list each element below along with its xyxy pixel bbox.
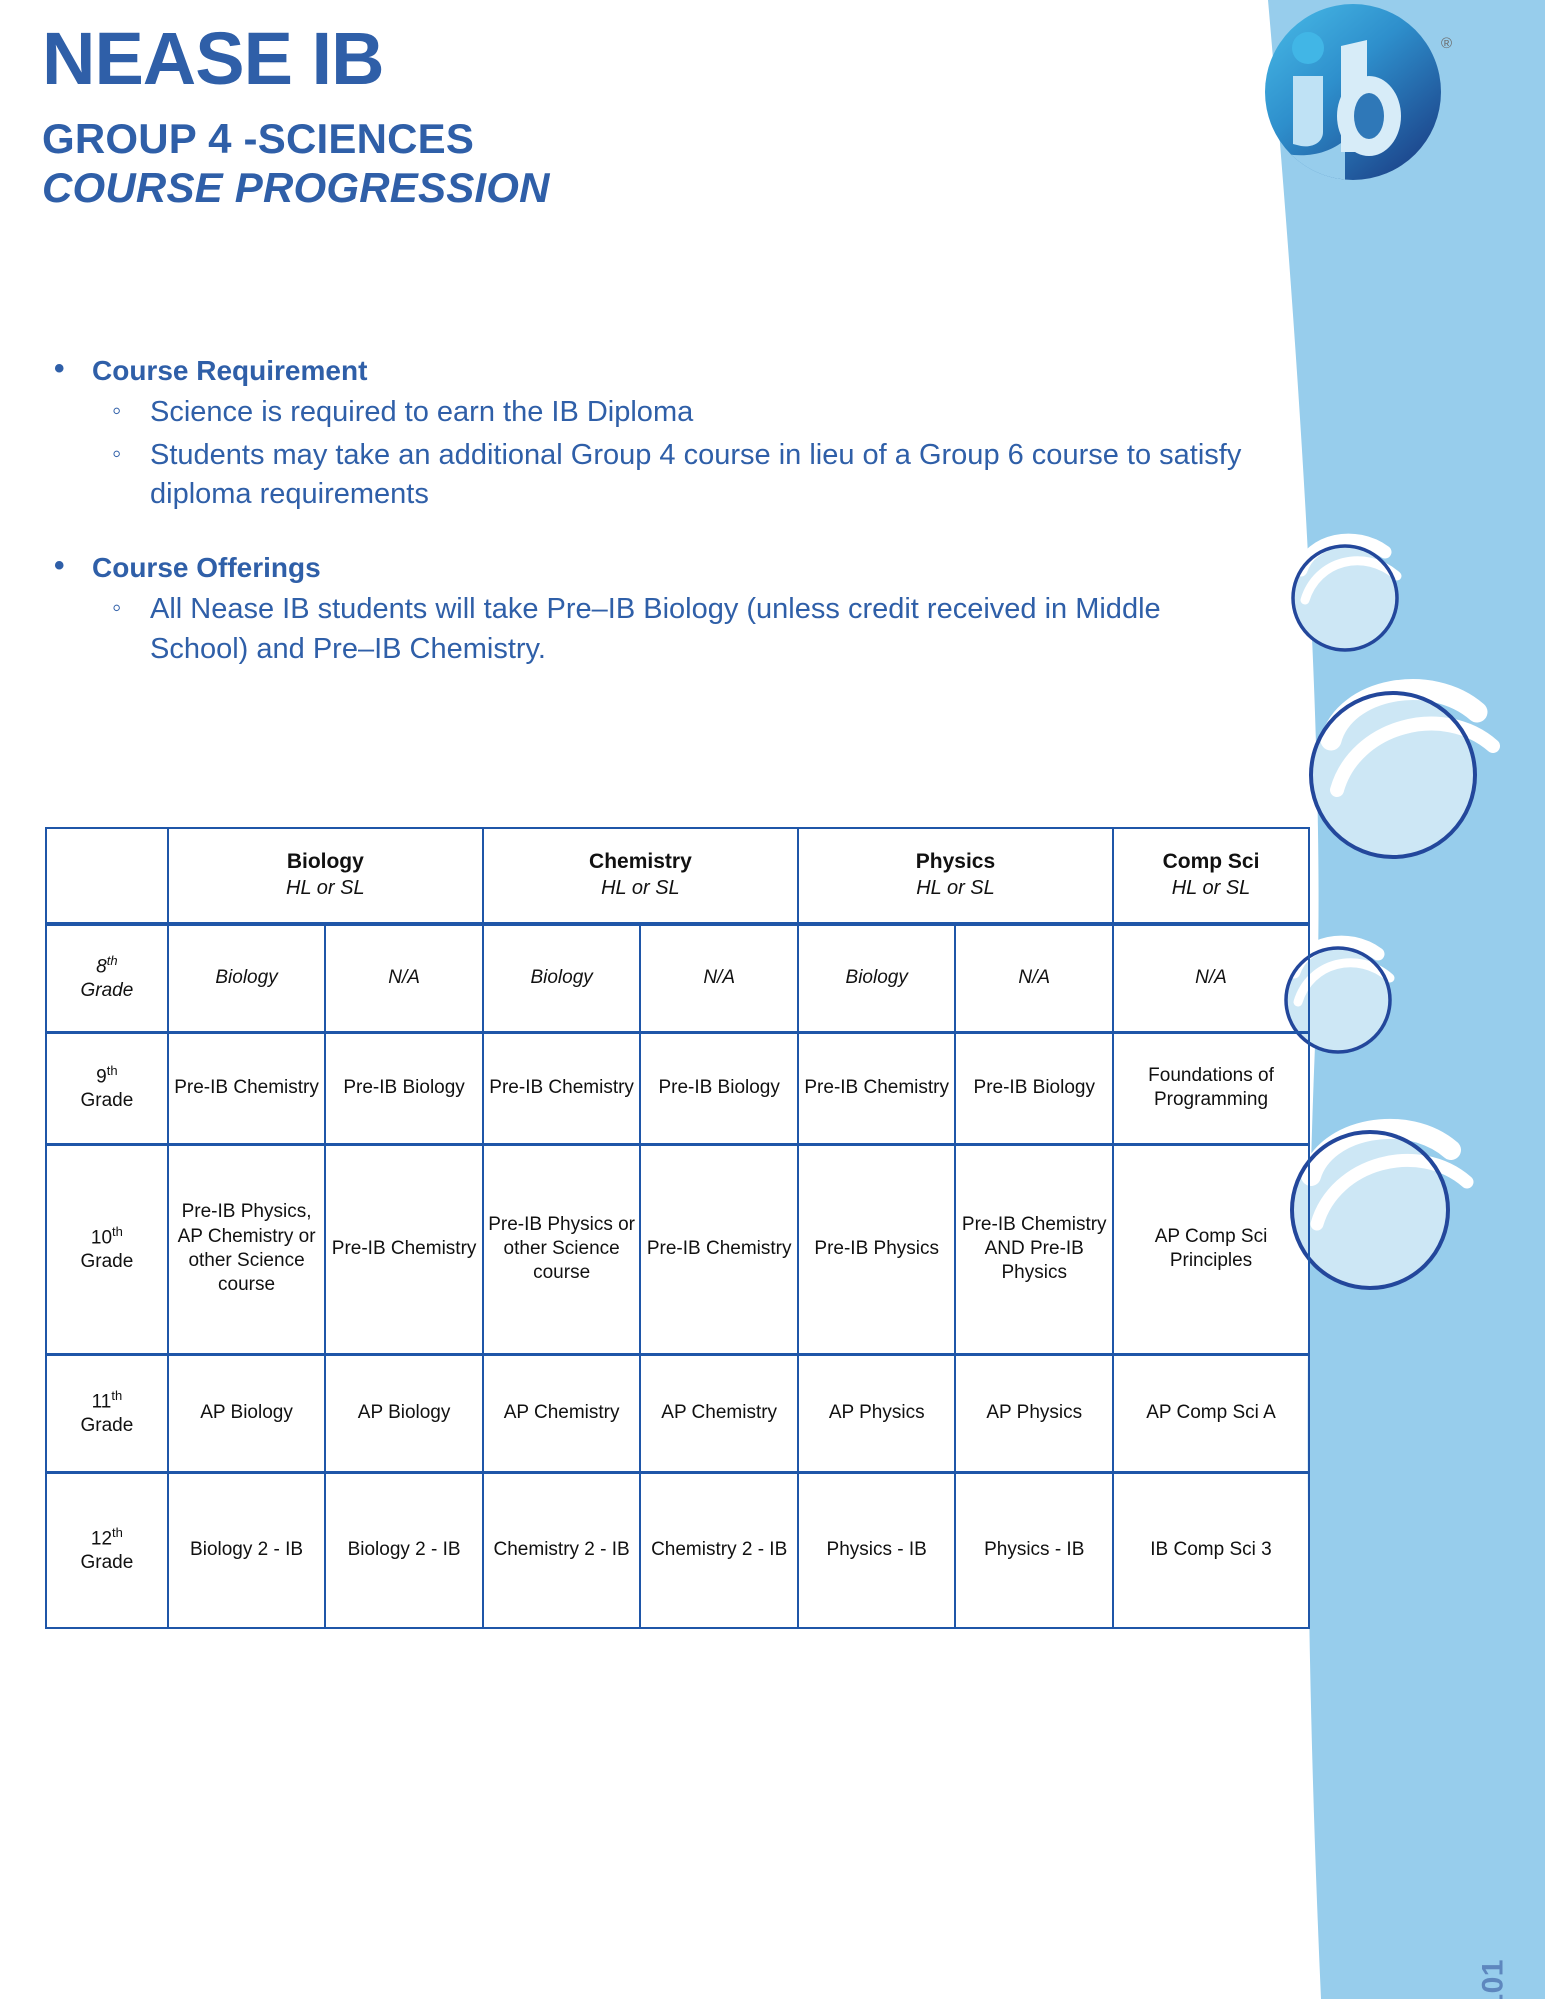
grade-ordinal: th <box>107 953 118 968</box>
table-cell: N/A <box>640 924 798 1032</box>
table-corner-cell <box>46 828 168 924</box>
column-header-chemistry: Chemistry HL or SL <box>483 828 798 924</box>
bubble-4 <box>1292 1129 1467 1288</box>
table-cell: Biology 2 - IB <box>168 1472 326 1628</box>
table-cell: Pre-IB Physics or other Science course <box>483 1144 641 1354</box>
table-cell: Pre-IB Biology <box>955 1032 1113 1144</box>
column-header-sub: HL or SL <box>487 876 794 902</box>
column-header-sub: HL or SL <box>1117 876 1305 902</box>
bullet-item: Science is required to earn the IB Diplo… <box>42 393 1252 432</box>
table-cell: N/A <box>1113 924 1309 1032</box>
row-label-grade-12: 12th Grade <box>46 1472 168 1628</box>
row-label-grade-9: 9th Grade <box>46 1032 168 1144</box>
page-title: NEASE IB <box>42 20 550 98</box>
table-cell: Pre-IB Chemistry <box>798 1032 956 1144</box>
table-row: 11th Grade AP Biology AP Biology AP Chem… <box>46 1354 1309 1472</box>
table-cell: Physics - IB <box>955 1472 1113 1628</box>
table-cell: Pre-IB Chemistry <box>483 1032 641 1144</box>
table-cell: IB Comp Sci 3 <box>1113 1472 1309 1628</box>
table-cell: Biology 2 - IB <box>325 1472 483 1628</box>
table-header-row: Biology HL or SL Chemistry HL or SL Phys… <box>46 828 1309 924</box>
grade-ordinal: th <box>111 1388 122 1403</box>
grade-ordinal: th <box>112 1224 123 1239</box>
table-cell: Pre-IB Biology <box>640 1032 798 1144</box>
table-cell: Chemistry 2 - IB <box>640 1472 798 1628</box>
bullet-heading-course-requirement: Course Requirement <box>42 355 1252 387</box>
table-cell: Pre-IB Chemistry <box>168 1032 326 1144</box>
table-cell: Biology <box>168 924 326 1032</box>
grade-number: 12 <box>91 1528 112 1549</box>
grade-ordinal: th <box>112 1525 123 1540</box>
table-cell: Pre-IB Chemistry <box>640 1144 798 1354</box>
bubble-decorations <box>1286 540 1493 1288</box>
table-cell: AP Chemistry <box>640 1354 798 1472</box>
table-cell: Biology <box>483 924 641 1032</box>
bullet-heading-course-offerings: Course Offerings <box>42 552 1252 584</box>
row-label-grade-11: 11th Grade <box>46 1354 168 1472</box>
row-label-grade-10: 10th Grade <box>46 1144 168 1354</box>
bubble-1 <box>1293 540 1397 650</box>
table-cell: Foundations of Programming <box>1113 1032 1309 1144</box>
table-row: 12th Grade Biology 2 - IB Biology 2 - IB… <box>46 1472 1309 1628</box>
table-cell: AP Biology <box>168 1354 326 1472</box>
table-cell: Pre-IB Physics, AP Chemistry or other Sc… <box>168 1144 326 1354</box>
ib-logo: ® <box>1245 0 1460 200</box>
table-cell: AP Physics <box>798 1354 956 1472</box>
table-cell: AP Chemistry <box>483 1354 641 1472</box>
column-header-physics: Physics HL or SL <box>798 828 1113 924</box>
table-cell: Chemistry 2 - IB <box>483 1472 641 1628</box>
grade-number: 9 <box>96 1066 107 1087</box>
column-header-name: Chemistry <box>487 849 794 876</box>
table-row: 9th Grade Pre-IB Chemistry Pre-IB Biolog… <box>46 1032 1309 1144</box>
bullet-spacer <box>42 518 1252 552</box>
table-cell: Pre-IB Chemistry AND Pre-IB Physics <box>955 1144 1113 1354</box>
page-subtitle: GROUP 4 -SCIENCES <box>42 116 550 162</box>
grade-number: 8 <box>96 956 107 977</box>
table-cell: AP Biology <box>325 1354 483 1472</box>
table-header: Biology HL or SL Chemistry HL or SL Phys… <box>46 828 1309 924</box>
table-cell: N/A <box>955 924 1113 1032</box>
registered-mark: ® <box>1441 35 1452 52</box>
grade-word: Grade <box>80 1415 133 1436</box>
column-header-sub: HL or SL <box>802 876 1109 902</box>
table-cell: AP Comp Sci Principles <box>1113 1144 1309 1354</box>
grade-word: Grade <box>80 980 133 1001</box>
table-cell: AP Comp Sci A <box>1113 1354 1309 1472</box>
column-header-sub: HL or SL <box>172 876 479 902</box>
table-cell: Biology <box>798 924 956 1032</box>
bubble-2 <box>1311 690 1493 857</box>
side-panel-vertical-label: Amy Case – IB Coordinator – C–101 <box>1477 1959 1511 1999</box>
flyer-page: ® <box>0 0 1545 1999</box>
bullet-item: Students may take an additional Group 4 … <box>42 436 1252 514</box>
column-header-name: Comp Sci <box>1117 849 1305 876</box>
grade-number: 10 <box>91 1227 112 1248</box>
table-row: 8th Grade Biology N/A Biology N/A Biolog… <box>46 924 1309 1032</box>
table-cell: Physics - IB <box>798 1472 956 1628</box>
table-cell: Pre-IB Biology <box>325 1032 483 1144</box>
grade-word: Grade <box>80 1251 133 1272</box>
table-cell: Pre-IB Chemistry <box>325 1144 483 1354</box>
table-row: 10th Grade Pre-IB Physics, AP Chemistry … <box>46 1144 1309 1354</box>
column-header-name: Physics <box>802 849 1109 876</box>
column-header-comp-sci: Comp Sci HL or SL <box>1113 828 1309 924</box>
grade-word: Grade <box>80 1090 133 1111</box>
column-header-name: Biology <box>172 849 479 876</box>
bullet-sections: Course Requirement Science is required t… <box>42 355 1252 673</box>
title-block: NEASE IB GROUP 4 -SCIENCES COURSE PROGRE… <box>42 20 550 212</box>
course-progression-table: Biology HL or SL Chemistry HL or SL Phys… <box>45 827 1310 1629</box>
grade-ordinal: th <box>107 1063 118 1078</box>
table-cell: Pre-IB Physics <box>798 1144 956 1354</box>
table-body: 8th Grade Biology N/A Biology N/A Biolog… <box>46 924 1309 1628</box>
grade-word: Grade <box>80 1552 133 1573</box>
row-label-grade-8: 8th Grade <box>46 924 168 1032</box>
table-cell: N/A <box>325 924 483 1032</box>
table-cell: AP Physics <box>955 1354 1113 1472</box>
grade-number: 11 <box>92 1391 112 1412</box>
page-subtitle-italic: COURSE PROGRESSION <box>42 164 550 212</box>
column-header-biology: Biology HL or SL <box>168 828 483 924</box>
bullet-item: All Nease IB students will take Pre–IB B… <box>42 590 1252 668</box>
